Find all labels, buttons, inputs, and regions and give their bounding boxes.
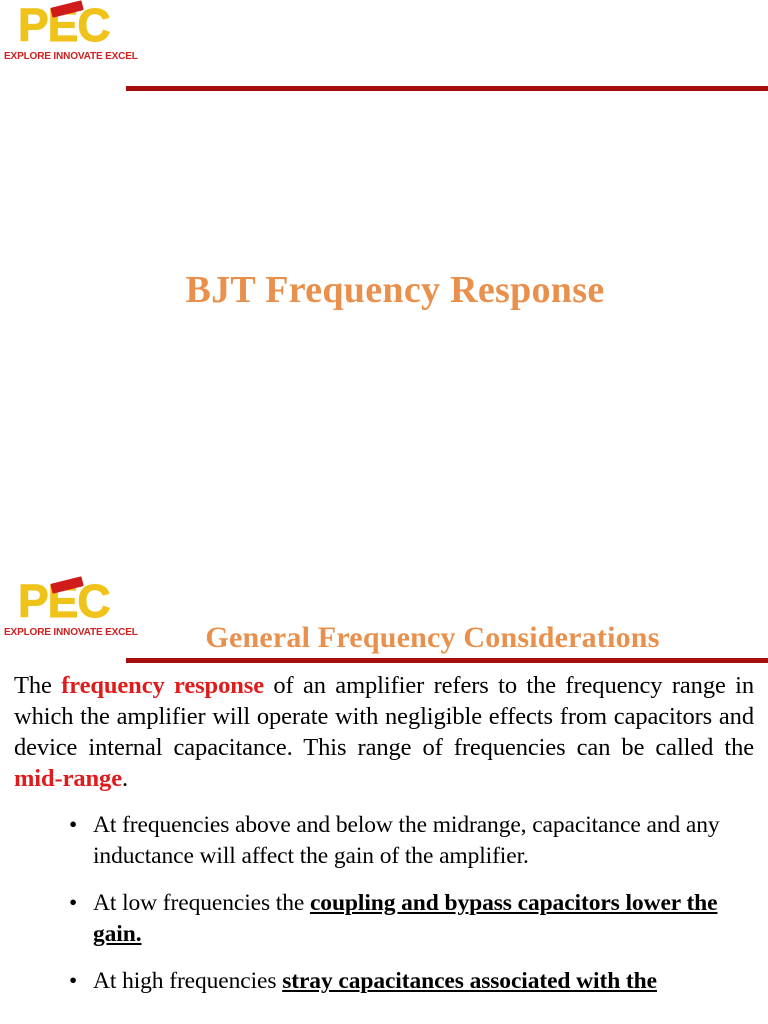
deck-title: BJT Frequency Response (0, 268, 768, 312)
bullet-dot-icon: • (69, 888, 77, 919)
pec-logo-secondary: PEC EXPLORE INNOVATE EXCEL (0, 578, 132, 650)
list-item: •At high frequencies stray capacitances … (14, 966, 754, 997)
slide-body: The frequency response of an amplifier r… (14, 670, 754, 997)
bullet-list: • At frequencies above and below the mid… (14, 810, 754, 997)
list-item: • At frequencies above and below the mid… (14, 810, 754, 872)
pec-tagline-secondary: EXPLORE INNOVATE EXCEL (4, 626, 138, 638)
header-divider-top (126, 86, 768, 91)
list-item-text: At frequencies above and below the midra… (93, 812, 720, 869)
list-item-text: At high frequencies (93, 968, 282, 994)
pec-logo-mark-secondary: PEC (0, 578, 132, 628)
highlight-frequency-response: frequency response (61, 672, 264, 699)
list-item-text: At low frequencies the (93, 890, 310, 916)
section-heading: General Frequency Considerations (160, 621, 705, 655)
list-item-emphasis: stray capacitances associated with the (282, 968, 657, 994)
header-divider-bottom (126, 658, 768, 663)
pec-logo-mark: PEC (0, 2, 132, 52)
paragraph-text-1: The (14, 672, 61, 699)
document-page: PEC EXPLORE INNOVATE EXCEL BJT Frequency… (0, 0, 768, 1024)
bullet-dot-icon: • (69, 966, 77, 997)
bullet-dot-icon: • (69, 810, 77, 841)
pec-logo: PEC EXPLORE INNOVATE EXCEL (0, 2, 132, 74)
highlight-mid-range: mid-range (14, 765, 122, 792)
paragraph-text-3: . (122, 765, 128, 792)
list-item: •At low frequencies the coupling and byp… (14, 888, 754, 950)
pec-tagline: EXPLORE INNOVATE EXCEL (4, 50, 138, 62)
intro-paragraph: The frequency response of an amplifier r… (14, 670, 754, 794)
